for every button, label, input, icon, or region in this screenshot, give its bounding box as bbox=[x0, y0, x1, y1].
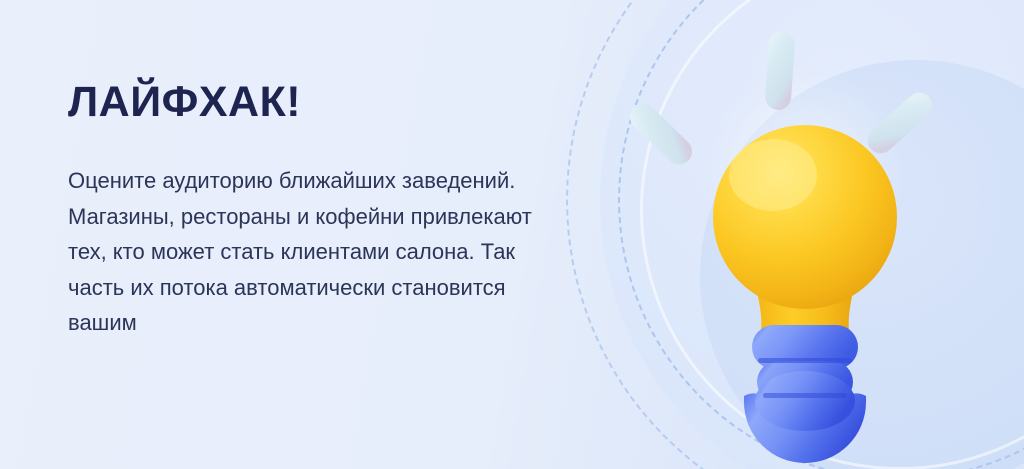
body-line: Магазины, рестораны и кофейни привлекают bbox=[68, 199, 598, 235]
ray-left-icon bbox=[625, 98, 698, 169]
bulb-highlight bbox=[729, 139, 817, 211]
body-line: часть их потока автоматически становится bbox=[68, 270, 598, 306]
body-line: тех, кто может стать клиентами салона. Т… bbox=[68, 234, 598, 270]
base-groove-2 bbox=[763, 393, 847, 398]
base-groove-1 bbox=[758, 358, 852, 363]
base-tip bbox=[755, 371, 855, 431]
bulb-base bbox=[744, 325, 866, 463]
body-line: вашим bbox=[68, 305, 598, 341]
body-line: Оцените аудиторию ближайших заведений. bbox=[68, 163, 598, 199]
lightbulb-illustration bbox=[660, 20, 950, 420]
body-text: Оцените аудиторию ближайших заведений. М… bbox=[68, 163, 598, 341]
copy-block: ЛАЙФХАК! Оцените аудиторию ближайших зав… bbox=[68, 80, 608, 341]
page-title: ЛАЙФХАК! bbox=[68, 80, 608, 125]
lifehack-banner: ЛАЙФХАК! Оцените аудиторию ближайших зав… bbox=[0, 0, 1024, 469]
ray-center-icon bbox=[764, 31, 795, 111]
